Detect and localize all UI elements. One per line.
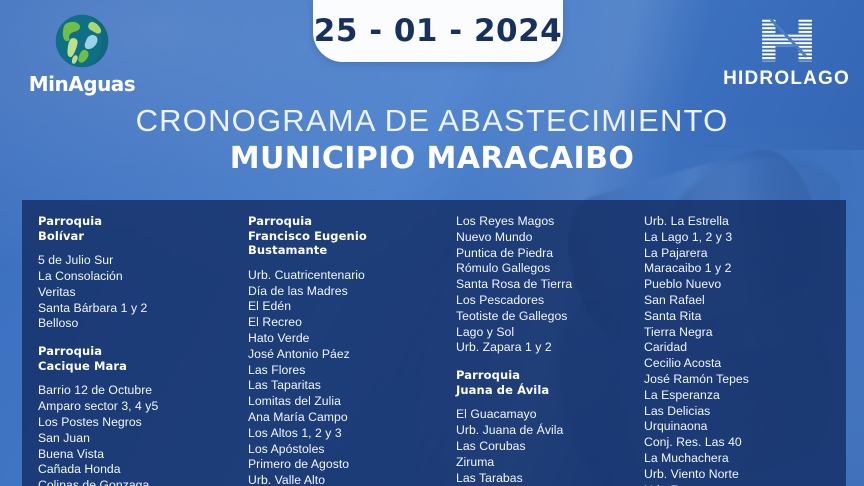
globe-icon [53, 12, 111, 70]
list-item: José Antonio Páez [248, 347, 452, 363]
list-item: Nuevo Mundo [456, 230, 634, 246]
list-item: Puntica de Piedra [456, 246, 634, 262]
list-item: Urquinaona [644, 419, 834, 435]
list-item: Los Pescadores [456, 293, 634, 309]
date-badge-text: 25 - 01 - 2024 [314, 13, 562, 49]
list-item: Día de las Madres [248, 284, 452, 300]
list-item: Lago y Sol [456, 325, 634, 341]
list-item: Primero de Agosto [248, 457, 452, 473]
list-item: Buena Vista [38, 447, 240, 463]
list-item: Cañada Honda [38, 462, 240, 478]
list-item: Urb. Valle Alto [248, 473, 452, 486]
column-4: Urb. La Estrella La Lago 1, 2 y 3 La Paj… [634, 214, 834, 486]
page-title: CRONOGRAMA DE ABASTECIMIENTO MUNICIPIO M… [0, 104, 864, 176]
list-item: Conj. Res. Las 40 [644, 435, 834, 451]
list-item: Los Apóstoles [248, 442, 452, 458]
list-item: Teotiste de Gallegos [456, 309, 634, 325]
list-item: Urb. Zapara 1 y 2 [456, 340, 634, 356]
list-item: Urb. Zapara [644, 483, 834, 486]
list-item: Las Taparitas [248, 378, 452, 394]
list-item: Hato Verde [248, 331, 452, 347]
sector-list: 5 de Julio Sur La Consolación Veritas Sa… [38, 253, 240, 332]
list-item: Ziruma [456, 455, 634, 471]
list-item: Urb. Juana de Ávila [456, 423, 634, 439]
minaguas-wordmark: MinAguas [22, 72, 142, 96]
list-item: Santa Rita [644, 309, 834, 325]
list-item: La Lago 1, 2 y 3 [644, 230, 834, 246]
parroquia-heading: Parroquia Francisco Eugenio Bustamante [248, 214, 452, 258]
hidrolago-h-icon [758, 16, 816, 64]
sector-list: Urb. Cuatricentenario Día de las Madres … [248, 268, 452, 486]
hidrolago-logo: HIDROLAGO [723, 16, 850, 90]
list-item: Santa Bárbara 1 y 2 [38, 301, 240, 317]
list-item: Las Tarabas [456, 471, 634, 486]
hidrolago-wordmark: HIDROLAGO [723, 68, 850, 90]
list-item: Los Reyes Magos [456, 214, 634, 230]
list-item: Santa Rosa de Tierra [456, 277, 634, 293]
minaguas-logo: MinAguas [22, 12, 142, 96]
list-item: Amparo sector 3, 4 y5 [38, 399, 240, 415]
schedule-panel: Parroquia Bolívar 5 de Julio Sur La Cons… [22, 200, 846, 486]
list-item: Las Delicias [644, 404, 834, 420]
sector-list: El Guacamayo Urb. Juana de Ávila Las Cor… [456, 407, 634, 486]
list-item: Caridad [644, 340, 834, 356]
list-item: Cecilio Acosta [644, 356, 834, 372]
list-item: Tierra Negra [644, 325, 834, 341]
list-item: Barrio 12 de Octubre [38, 383, 240, 399]
list-item: Urb. Cuatricentenario [248, 268, 452, 284]
list-item: Las Corubas [456, 439, 634, 455]
list-item: Lomitas del Zulia [248, 394, 452, 410]
list-item: Rómulo Gallegos [456, 261, 634, 277]
list-item: San Rafael [644, 293, 834, 309]
list-item: La Consolación [38, 269, 240, 285]
list-item: La Muchachera [644, 451, 834, 467]
list-item: San Juan [38, 431, 240, 447]
date-badge: 25 - 01 - 2024 [313, 0, 563, 62]
list-item: 5 de Julio Sur [38, 253, 240, 269]
list-item: Colinas de Gonzaga [38, 478, 240, 486]
list-item: La Pajarera [644, 246, 834, 262]
parroquia-heading: Parroquia Cacique Mara [38, 344, 240, 373]
column-1: Parroquia Bolívar 5 de Julio Sur La Cons… [22, 214, 240, 486]
column-2: Parroquia Francisco Eugenio Bustamante U… [240, 214, 452, 486]
list-item: Ana María Campo [248, 410, 452, 426]
column-3: Los Reyes Magos Nuevo Mundo Puntica de P… [452, 214, 634, 486]
list-item: El Guacamayo [456, 407, 634, 423]
title-line-1: CRONOGRAMA DE ABASTECIMIENTO [0, 104, 864, 139]
list-item: Los Altos 1, 2 y 3 [248, 426, 452, 442]
title-line-2: MUNICIPIO MARACAIBO [0, 141, 864, 176]
list-item: Pueblo Nuevo [644, 277, 834, 293]
list-item: El Recreo [248, 315, 452, 331]
list-item: El Edén [248, 299, 452, 315]
parroquia-heading: Parroquia Juana de Ávila [456, 368, 634, 397]
list-item: Urb. Viento Norte [644, 467, 834, 483]
list-item: Urb. La Estrella [644, 214, 834, 230]
list-item: Belloso [38, 316, 240, 332]
list-item: Las Flores [248, 363, 452, 379]
parroquia-heading: Parroquia Bolívar [38, 214, 240, 243]
list-item: Maracaibo 1 y 2 [644, 261, 834, 277]
sector-list: Los Reyes Magos Nuevo Mundo Puntica de P… [456, 214, 634, 356]
list-item: La Esperanza [644, 388, 834, 404]
sector-list: Urb. La Estrella La Lago 1, 2 y 3 La Paj… [644, 214, 834, 486]
sector-list: Barrio 12 de Octubre Amparo sector 3, 4 … [38, 383, 240, 486]
list-item: Veritas [38, 285, 240, 301]
list-item: Los Postes Negros [38, 415, 240, 431]
list-item: José Ramón Tepes [644, 372, 834, 388]
